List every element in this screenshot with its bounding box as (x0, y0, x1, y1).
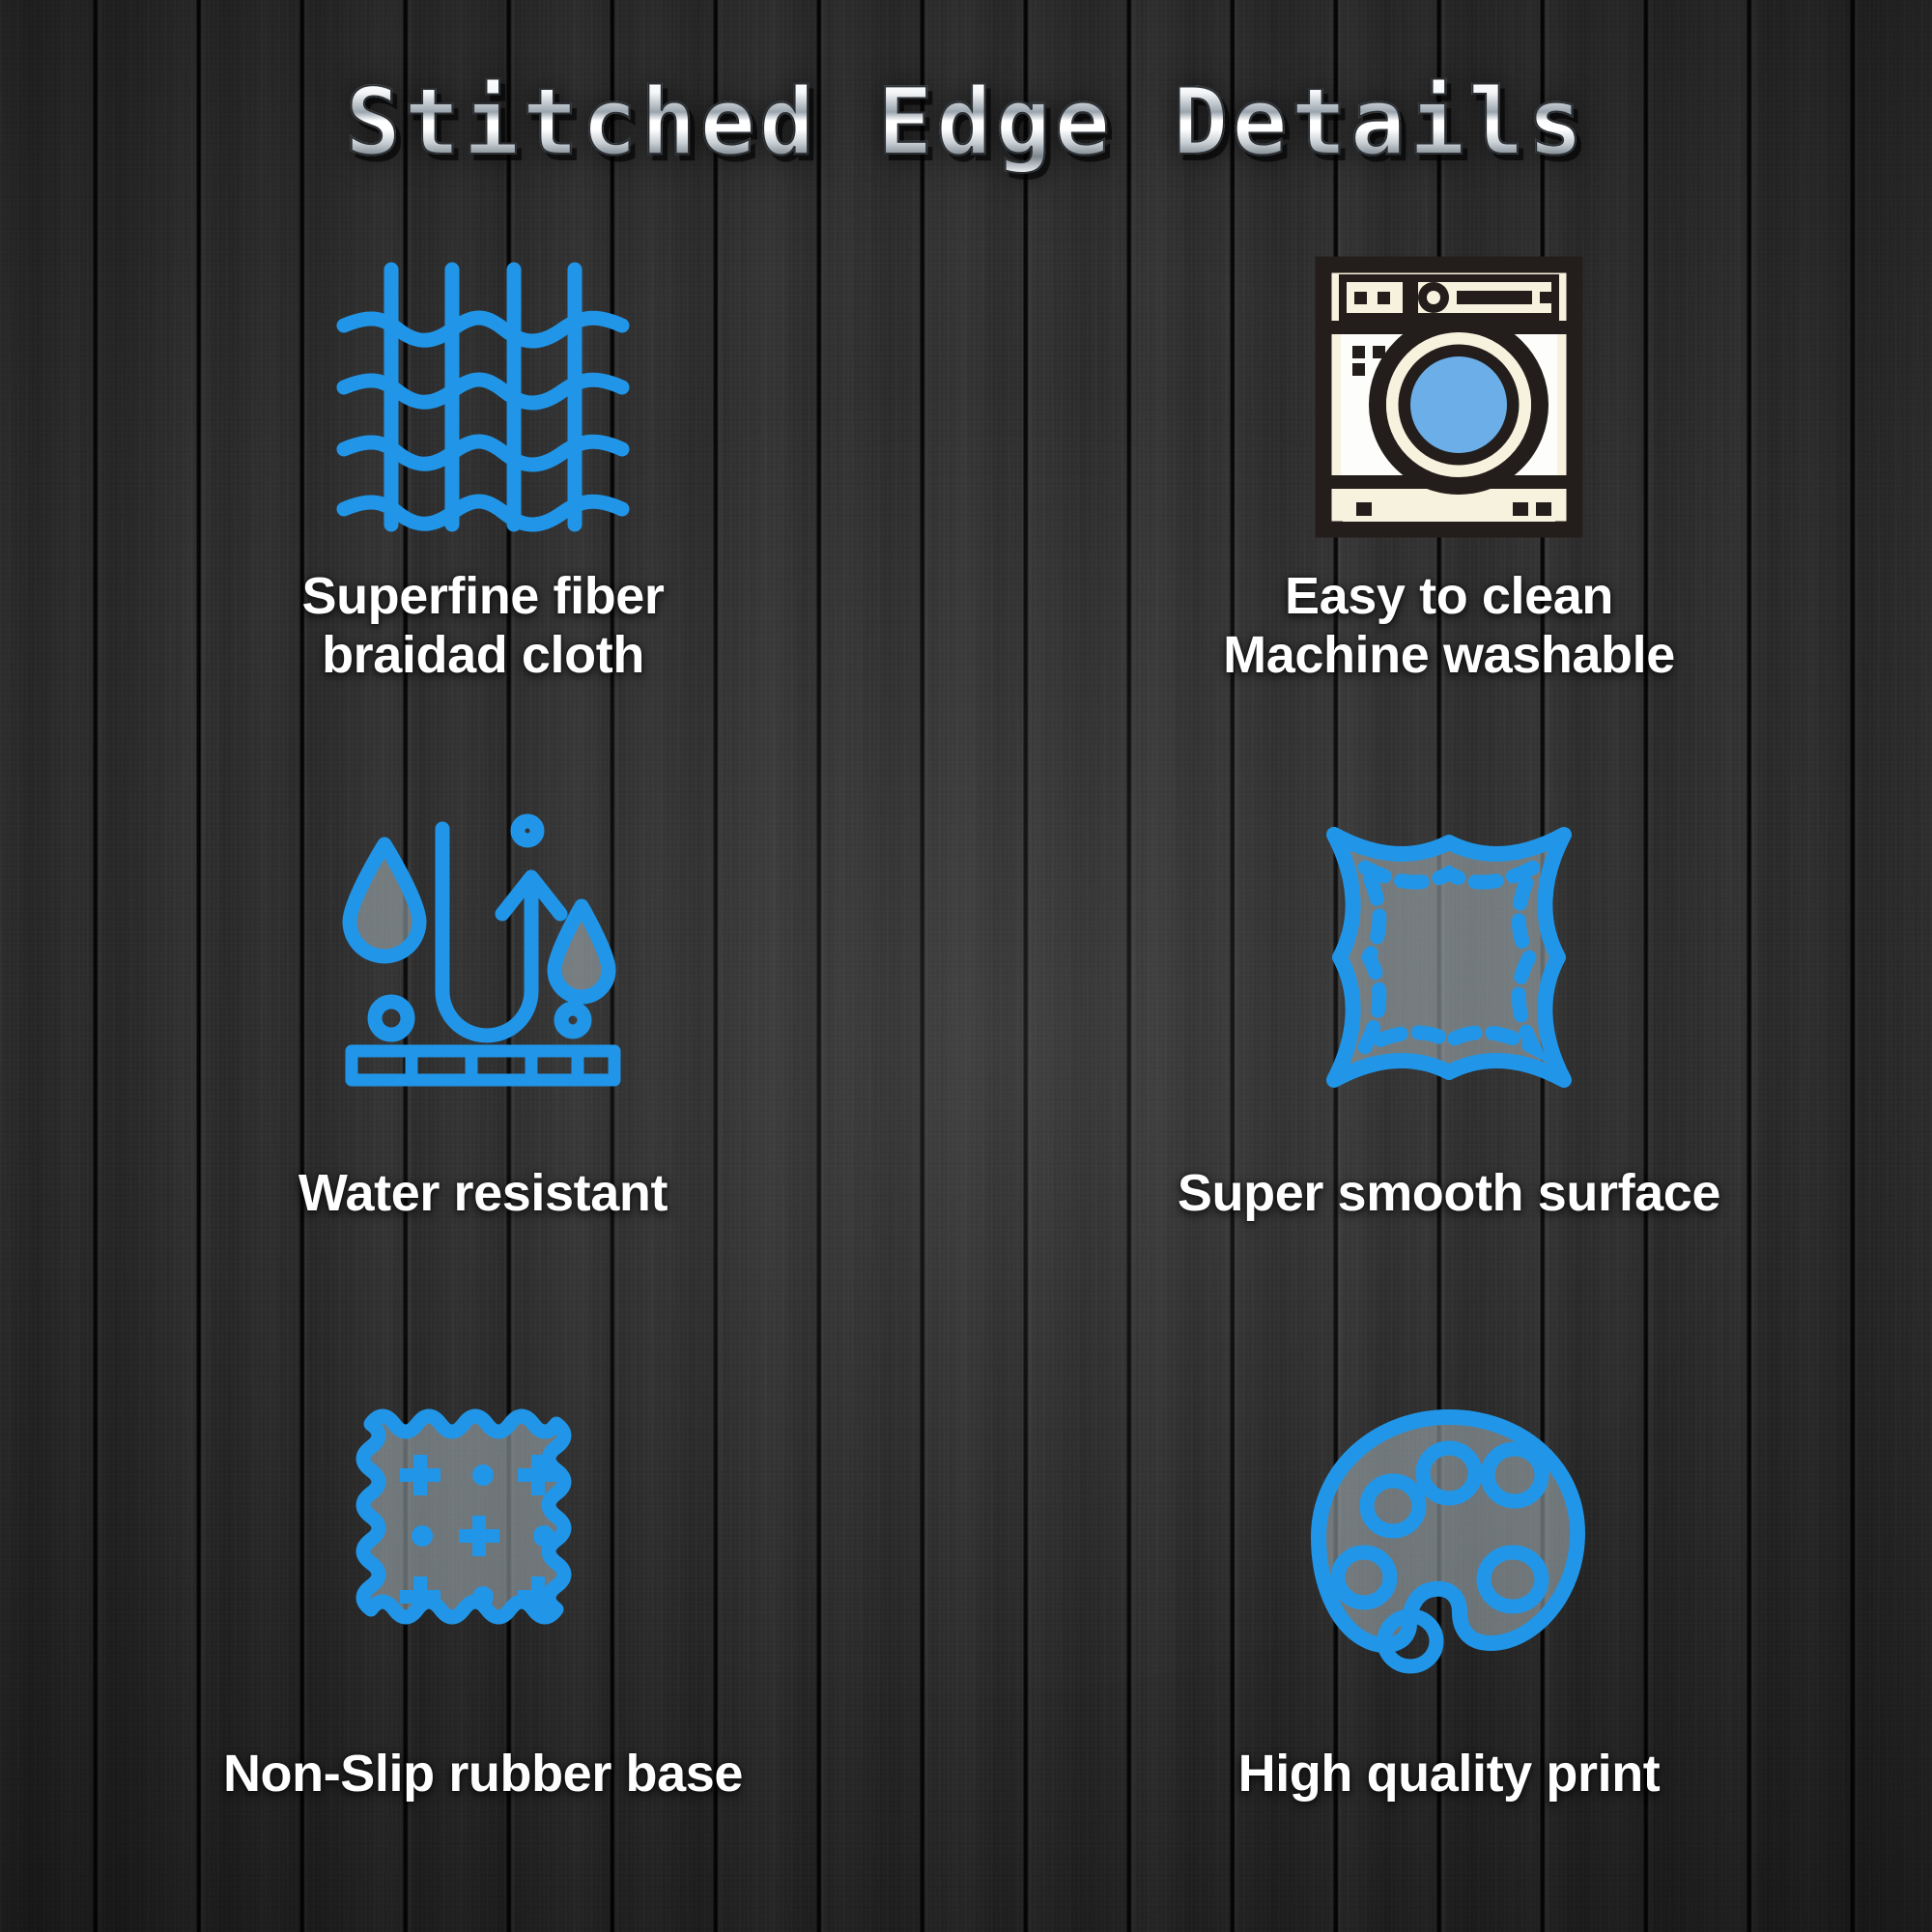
water-resistant-icon (338, 793, 628, 1122)
feature-item-superfine-fiber: Superfine fiber braidad cloth (0, 198, 966, 776)
feature-label: Non-Slip rubber base (223, 1745, 743, 1804)
rubber-base-icon (348, 1372, 618, 1700)
feature-label: High quality print (1238, 1745, 1661, 1804)
infographic-page: Stitched Edge Details (0, 0, 1932, 1932)
feature-item-rubber-base: Non-Slip rubber base (0, 1354, 966, 1932)
feature-label: Water resistant (298, 1164, 668, 1223)
woven-fabric-icon (338, 242, 628, 552)
feature-grid: Superfine fiber braidad cloth (0, 198, 1932, 1932)
feature-item-smooth-surface: Super smooth surface (966, 776, 1932, 1353)
feature-item-machine-washable: Easy to clean Machine washable (966, 198, 1932, 776)
feature-item-water-resistant: Water resistant (0, 776, 966, 1353)
feature-item-high-quality-print: High quality print (966, 1354, 1932, 1932)
page-title-container: Stitched Edge Details (0, 75, 1932, 172)
feature-label: Super smooth surface (1178, 1164, 1720, 1223)
paint-palette-icon (1309, 1372, 1589, 1700)
feature-label: Superfine fiber braidad cloth (301, 567, 664, 685)
leather-hide-icon (1309, 793, 1589, 1122)
feature-label: Easy to clean Machine washable (1223, 567, 1675, 685)
washing-machine-icon (1314, 242, 1584, 552)
page-title: Stitched Edge Details (345, 75, 1586, 172)
